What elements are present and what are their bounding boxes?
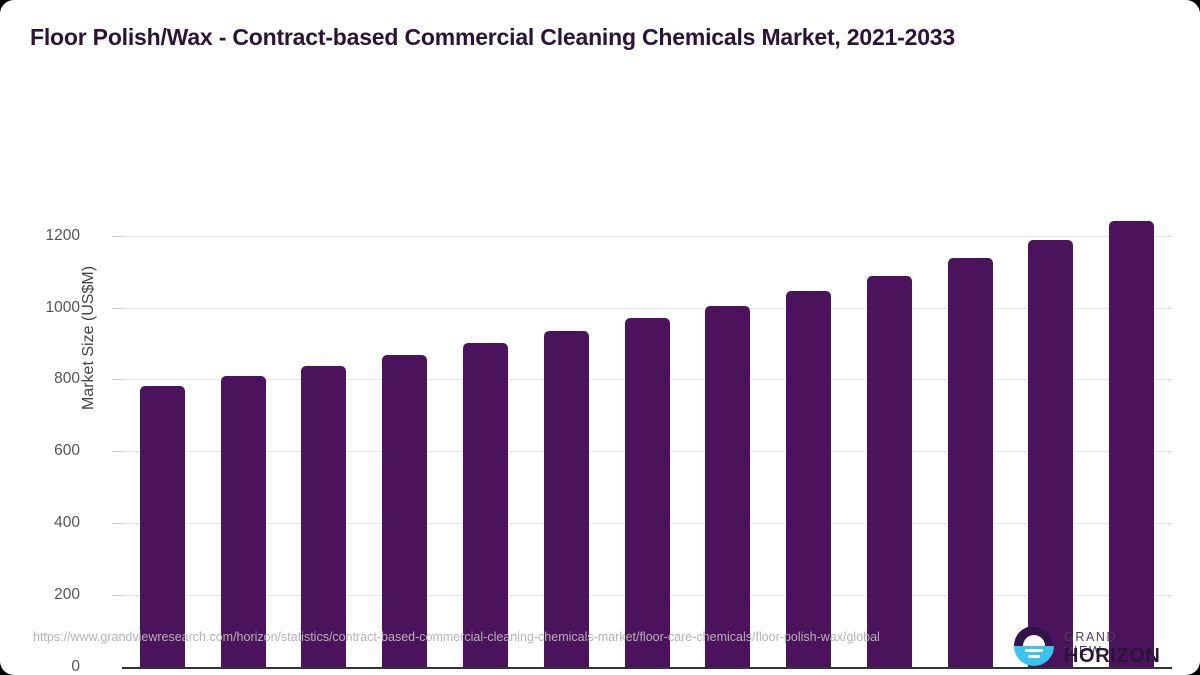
bar[interactable] bbox=[705, 306, 750, 667]
logo-line-lower bbox=[1028, 655, 1040, 658]
y-tick-mark bbox=[112, 595, 122, 596]
horizon-sun-icon bbox=[1014, 626, 1054, 666]
chart-page: Floor Polish/Wax - Contract-based Commer… bbox=[0, 0, 1200, 675]
bar[interactable] bbox=[786, 291, 831, 667]
y-axis-title: Market Size (US$M) bbox=[80, 266, 98, 410]
gridline bbox=[122, 308, 1172, 309]
bar[interactable] bbox=[221, 376, 266, 667]
grand-view-horizon-logo: GRAND VIEW HORIZON bbox=[1014, 624, 1160, 668]
bar[interactable] bbox=[625, 318, 670, 667]
y-tick-label: 1000 bbox=[10, 299, 80, 317]
y-tick-mark bbox=[112, 236, 122, 237]
bar[interactable] bbox=[301, 366, 346, 667]
bar[interactable] bbox=[948, 258, 993, 667]
logo-line-upper bbox=[1025, 649, 1043, 652]
y-tick-label: 600 bbox=[10, 442, 80, 460]
y-tick-label: 1200 bbox=[10, 227, 80, 245]
bar[interactable] bbox=[544, 331, 589, 667]
bar[interactable] bbox=[1109, 221, 1154, 667]
y-tick-label: 0 bbox=[10, 658, 80, 675]
plot-area: Market Size (US$M) 020040060080010001200… bbox=[122, 110, 1172, 557]
y-tick-mark bbox=[112, 379, 122, 380]
bar[interactable] bbox=[140, 386, 185, 667]
y-tick-label: 200 bbox=[10, 586, 80, 604]
y-tick-label: 400 bbox=[10, 514, 80, 532]
y-tick-mark bbox=[112, 308, 122, 309]
bar[interactable] bbox=[867, 276, 912, 667]
bar[interactable] bbox=[382, 355, 427, 667]
y-tick-mark bbox=[112, 523, 122, 524]
gridline bbox=[122, 236, 1172, 237]
bar[interactable] bbox=[1028, 240, 1073, 667]
source-url[interactable]: https://www.grandviewresearch.com/horizo… bbox=[33, 629, 963, 646]
logo-text-horizon: HORIZON bbox=[1064, 645, 1160, 668]
y-tick-mark bbox=[112, 451, 122, 452]
y-tick-label: 800 bbox=[10, 370, 80, 388]
bar[interactable] bbox=[463, 343, 508, 667]
page-title: Floor Polish/Wax - Contract-based Commer… bbox=[30, 24, 955, 51]
